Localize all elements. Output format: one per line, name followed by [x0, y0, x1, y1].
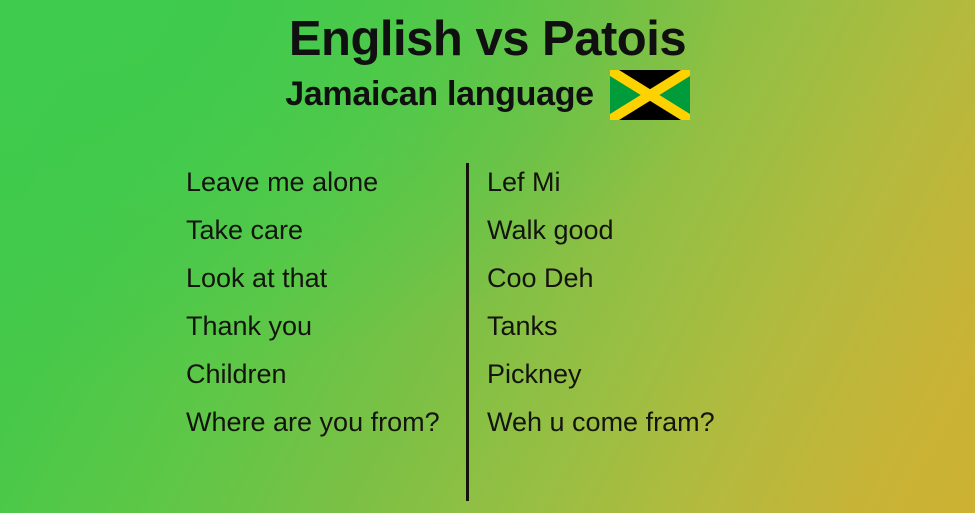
- page-title: English vs Patois: [0, 0, 975, 66]
- english-phrase: Where are you from?: [186, 398, 487, 446]
- patois-phrase: Lef Mi: [487, 158, 906, 206]
- patois-phrase: Walk good: [487, 206, 906, 254]
- english-phrase: Thank you: [186, 302, 487, 350]
- english-phrase: Leave me alone: [186, 158, 487, 206]
- subtitle-row: Jamaican language: [0, 70, 975, 120]
- page-subtitle: Jamaican language: [285, 75, 594, 114]
- table-row: Take care Walk good: [186, 206, 906, 254]
- english-phrase: Children: [186, 350, 487, 398]
- table-row: Thank you Tanks: [186, 302, 906, 350]
- table-row: Leave me alone Lef Mi: [186, 158, 906, 206]
- poster-canvas: English vs Patois Jamaican language Leav…: [0, 0, 975, 513]
- patois-phrase: Weh u come fram?: [487, 398, 906, 446]
- phrase-table: Leave me alone Lef Mi Take care Walk goo…: [186, 158, 906, 446]
- patois-phrase: Tanks: [487, 302, 906, 350]
- english-phrase: Take care: [186, 206, 487, 254]
- jamaican-flag-icon: [610, 70, 690, 120]
- poster-header: English vs Patois Jamaican language: [0, 0, 975, 120]
- table-row: Where are you from? Weh u come fram?: [186, 398, 906, 446]
- patois-phrase: Coo Deh: [487, 254, 906, 302]
- table-row: Children Pickney: [186, 350, 906, 398]
- table-row: Look at that Coo Deh: [186, 254, 906, 302]
- english-phrase: Look at that: [186, 254, 487, 302]
- patois-phrase: Pickney: [487, 350, 906, 398]
